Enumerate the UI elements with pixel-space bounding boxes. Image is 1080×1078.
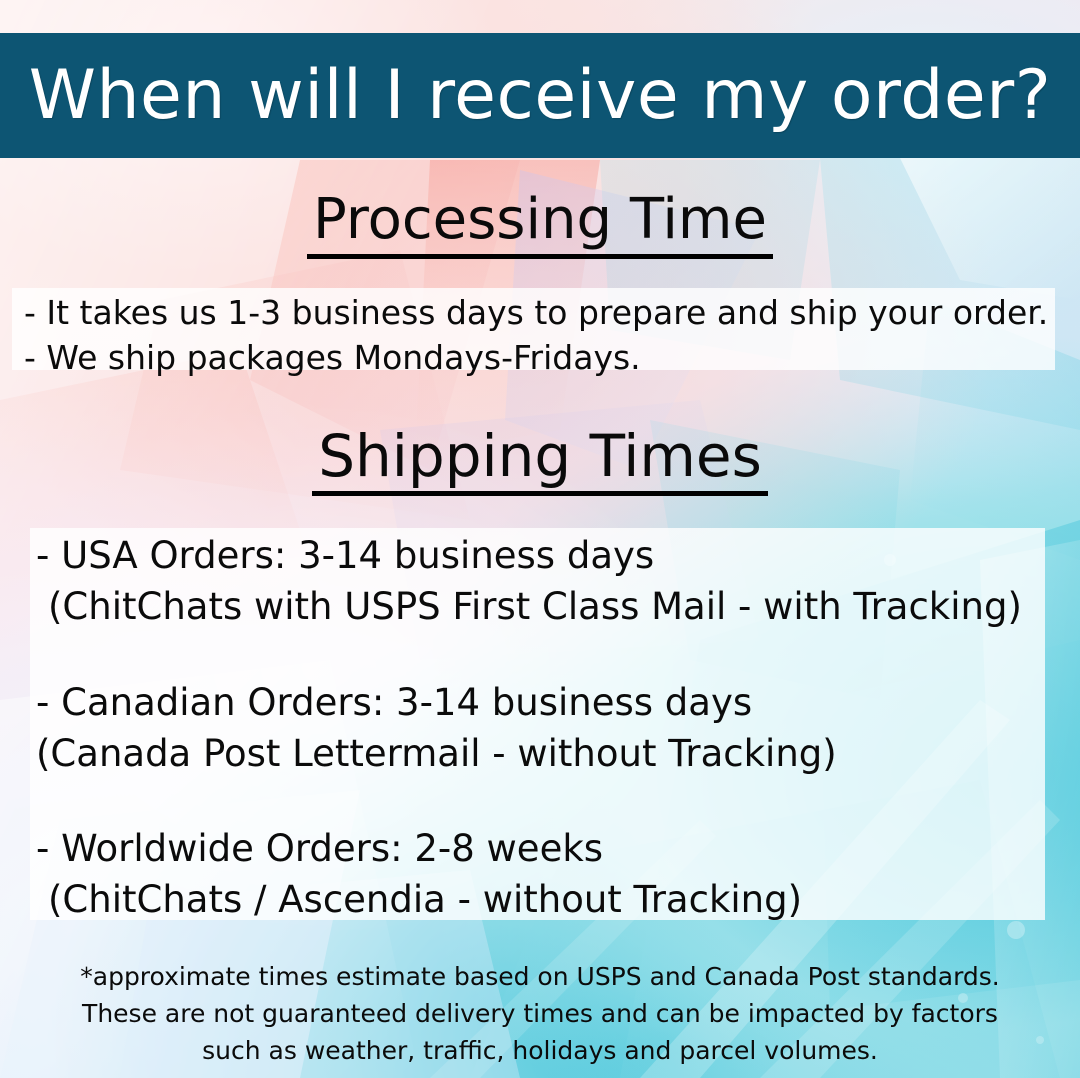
shipping-entry-canada: - Canadian Orders: 3-14 business days (C… (36, 677, 837, 779)
section-heading-processing-time: Processing Time (0, 192, 1080, 259)
shipping-usa-line-2: (ChitChats with USPS First Class Mail - … (36, 581, 1022, 632)
processing-line-1: - It takes us 1-3 business days to prepa… (24, 290, 1048, 335)
header-banner: When will I receive my order? (0, 33, 1080, 158)
page-title: When will I receive my order? (29, 62, 1052, 130)
processing-time-lines: - It takes us 1-3 business days to prepa… (24, 290, 1048, 380)
processing-time-heading-text: Processing Time (307, 192, 773, 259)
footnote-line-3: such as weather, traffic, holidays and p… (0, 1032, 1080, 1069)
footnote-line-1: *approximate times estimate based on USP… (0, 958, 1080, 995)
footnote-disclaimer: *approximate times estimate based on USP… (0, 958, 1080, 1069)
shipping-entry-usa: - USA Orders: 3-14 business days (ChitCh… (36, 530, 1022, 632)
shipping-canada-line-1: - Canadian Orders: 3-14 business days (36, 681, 752, 724)
shipping-canada-line-2: (Canada Post Lettermail - without Tracki… (36, 728, 837, 779)
shipping-times-heading-text: Shipping Times (312, 427, 768, 496)
processing-line-2: - We ship packages Mondays-Fridays. (24, 335, 1048, 380)
shipping-usa-line-1: - USA Orders: 3-14 business days (36, 534, 654, 577)
shipping-entry-worldwide: - Worldwide Orders: 2-8 weeks (ChitChats… (36, 823, 802, 925)
shipping-info-card: When will I receive my order? Processing… (0, 0, 1080, 1078)
footnote-line-2: These are not guaranteed delivery times … (0, 995, 1080, 1032)
shipping-worldwide-line-2: (ChitChats / Ascendia - without Tracking… (36, 874, 802, 925)
section-heading-shipping-times: Shipping Times (0, 427, 1080, 496)
shipping-worldwide-line-1: - Worldwide Orders: 2-8 weeks (36, 827, 603, 870)
